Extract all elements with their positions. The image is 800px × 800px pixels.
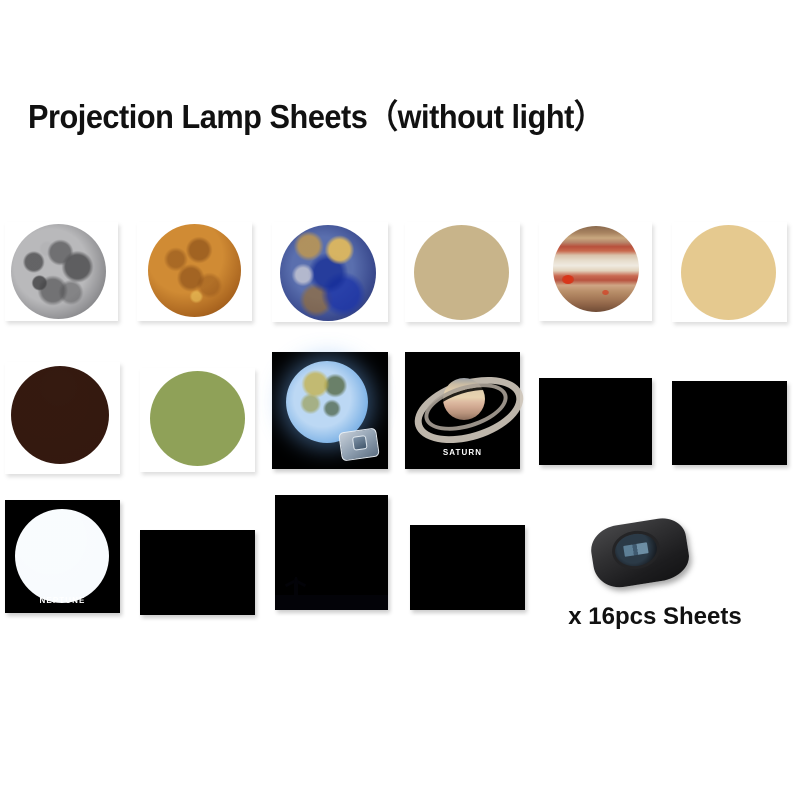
sheet-earth-americas[interactable]: [140, 368, 255, 472]
horizon-ground: [275, 595, 388, 610]
sheet-milky-way[interactable]: [275, 495, 388, 610]
pack-count-label: x 16pcs Sheets: [560, 603, 750, 631]
sheet-venus[interactable]: [137, 222, 252, 321]
neptune-caption: NEPTUNE: [5, 596, 120, 605]
sheet-jupiter[interactable]: [539, 222, 652, 321]
small-storm-spot: [602, 290, 609, 295]
projector-lamp-device[interactable]: [592, 522, 688, 584]
great-red-spot: [562, 275, 574, 284]
sheet-andromeda[interactable]: [140, 530, 255, 615]
earth-australia-globe: [681, 225, 776, 320]
jupiter-globe: [553, 226, 639, 312]
sheet-mercury[interactable]: [272, 222, 388, 322]
sheet-mars[interactable]: [5, 362, 120, 474]
stargazer-silhouette: [294, 577, 298, 597]
sheet-earth-australia[interactable]: [672, 222, 787, 322]
saturn-caption: SATURN: [405, 448, 520, 457]
sheet-earth-europe[interactable]: [405, 222, 520, 322]
earth-europe-globe: [414, 225, 509, 320]
earth-americas-globe: [150, 371, 245, 466]
projector-lens-image: [623, 542, 648, 557]
neptune-globe: [15, 509, 109, 603]
sheet-blue-moon[interactable]: [272, 352, 388, 469]
sheet-aurora[interactable]: [410, 525, 525, 610]
mercury-globe: [280, 225, 376, 321]
mars-globe: [11, 366, 109, 464]
moon-globe: [11, 224, 106, 319]
sheet-moon[interactable]: [5, 222, 118, 321]
sheet-neptune[interactable]: NEPTUNE: [5, 500, 120, 613]
sheet-black-hole-blue[interactable]: [539, 378, 652, 465]
venus-globe: [148, 224, 241, 317]
sheet-saturn[interactable]: SATURN: [405, 352, 520, 469]
sheet-black-hole-pink[interactable]: [672, 381, 787, 465]
stargazer-right-arm: [296, 580, 306, 587]
page-title: Projection Lamp Sheets（without light）: [28, 90, 604, 138]
projector-thumbnail: [338, 427, 380, 461]
